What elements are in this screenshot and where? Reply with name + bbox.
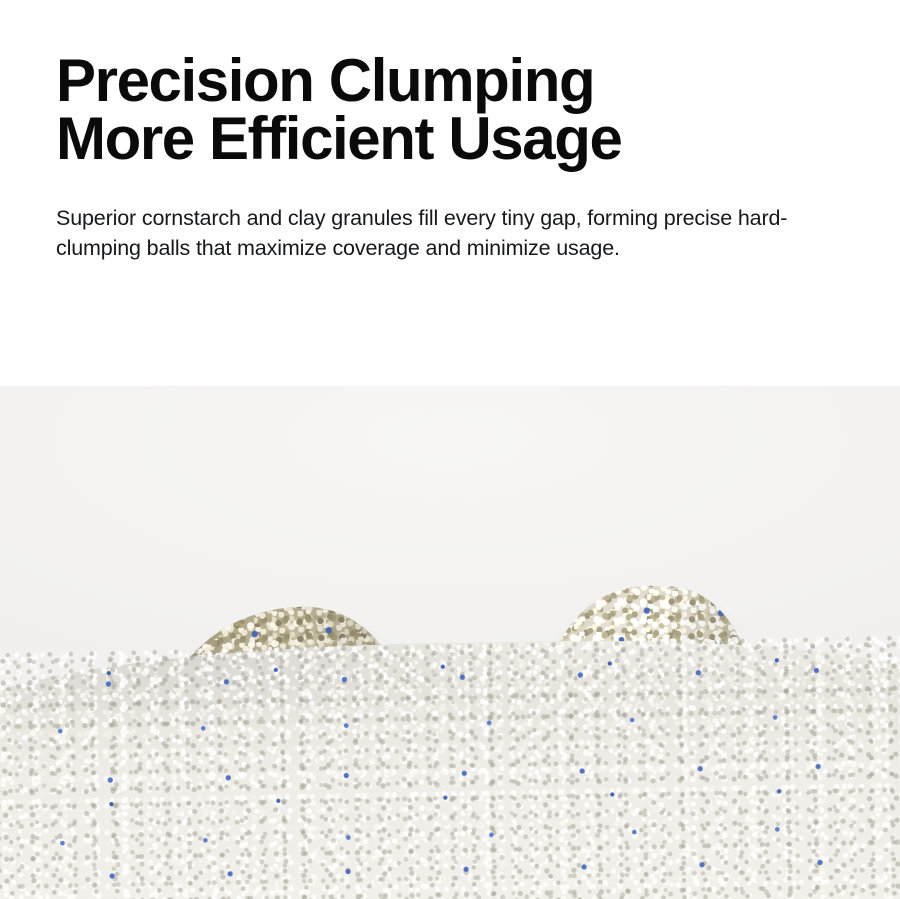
text-section: Precision Clumping More Efficient Usage … — [0, 0, 900, 386]
granule-texture-white — [0, 634, 900, 899]
page-title: Precision Clumping More Efficient Usage — [56, 52, 621, 168]
litter-bed — [0, 634, 900, 899]
granule-texture-blue — [0, 634, 900, 899]
feature-description: Superior cornstarch and clay granules fi… — [56, 203, 856, 263]
product-feature-page: Precision Clumping More Efficient Usage … — [0, 0, 900, 899]
granule-texture-shadow — [0, 634, 900, 899]
product-photo — [0, 386, 900, 899]
